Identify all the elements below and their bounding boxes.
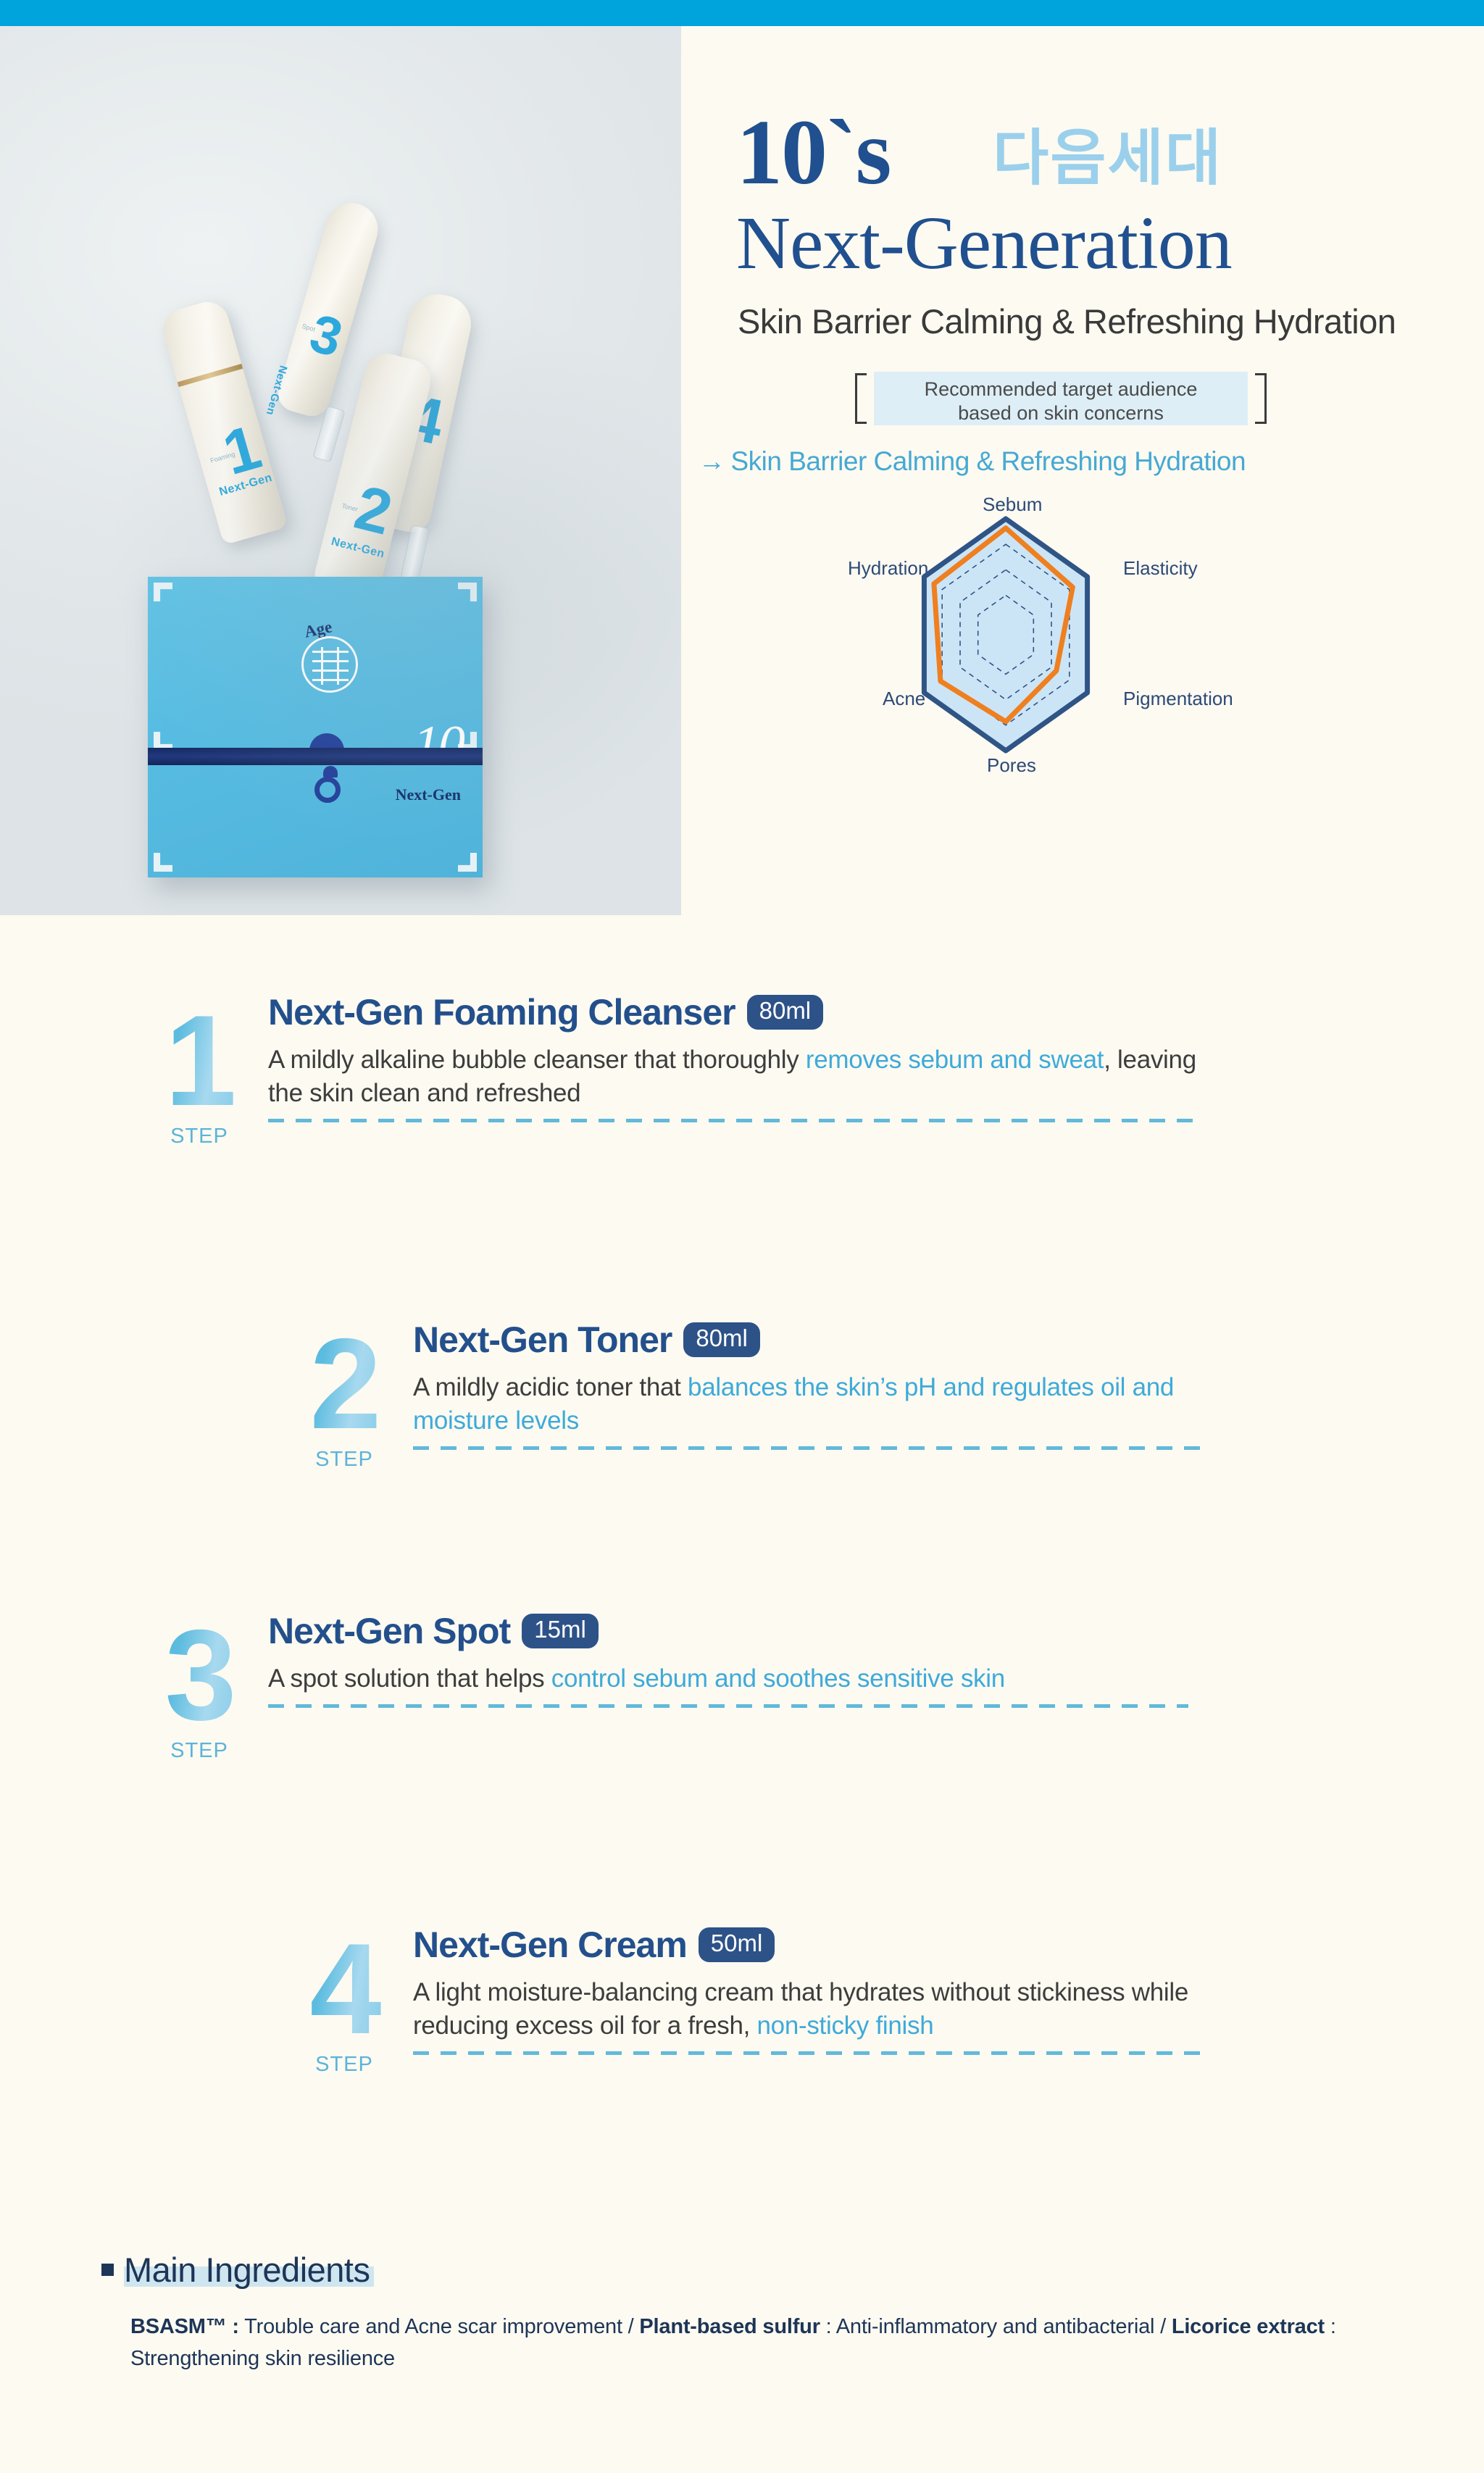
step-word-3: STEP	[130, 1739, 268, 1763]
step-divider-2	[413, 1446, 1210, 1450]
square-bullet-icon	[101, 2264, 114, 2276]
step-body-1: Next-Gen Foaming Cleanser 80ml A mildly …	[268, 991, 1203, 1122]
bottle-gold-ring	[178, 364, 243, 387]
step-title-row-2: Next-Gen Toner 80ml	[413, 1319, 1210, 1361]
step-numeral-3: 3	[130, 1616, 268, 1735]
radar-label-pores: Pores	[987, 754, 1036, 777]
step-title-3: Next-Gen Spot	[268, 1610, 510, 1652]
target-audience-text: Recommended target audience based on ski…	[874, 378, 1248, 426]
box-brand-text: Next-Gen	[396, 785, 461, 804]
product-small-label-2: Toner	[341, 502, 359, 513]
product-brand-4: Next-Gen	[357, 483, 380, 539]
skin-concern-radar-chart: Sebum Elasticity Pigmentation Pores Acne…	[761, 493, 1341, 776]
box-corner	[458, 853, 477, 872]
step-divider-3	[268, 1704, 1188, 1708]
step-description-4: A light moisture-balancing cream that hy…	[413, 1976, 1203, 2043]
box-corner	[154, 853, 172, 872]
step-number-column-2: 2 STEP	[275, 1325, 413, 1472]
ingredient-desc-1: Trouble care and Acne scar improvement /	[239, 2315, 640, 2338]
step-title-4: Next-Gen Cream	[413, 1924, 687, 1966]
step-title-row-1: Next-Gen Foaming Cleanser 80ml	[268, 991, 1203, 1033]
radar-plot-area	[883, 515, 1129, 754]
step-title-2: Next-Gen Toner	[413, 1319, 672, 1361]
box-corner	[154, 732, 172, 751]
step-number-column-1: 1 STEP	[130, 1001, 268, 1148]
ingredients-title-wrap: Main Ingredients	[124, 2250, 370, 2290]
ingredients-heading: Main Ingredients	[124, 2251, 370, 2289]
gift-box: Age 10 Next-Gen	[148, 577, 483, 877]
side-tagline: Everything is new, easy to start skin ca…	[1477, 1561, 1484, 2413]
volume-badge-1: 80ml	[747, 995, 824, 1030]
volume-badge-2: 80ml	[683, 1322, 760, 1357]
step-body-4: Next-Gen Cream 50ml A light moisture-bal…	[413, 1924, 1203, 2055]
product-photo: 3 Spot Next-Gen 4 Cream Next-Gen 1 Foami…	[0, 26, 681, 915]
step-description-1: A mildly alkaline bubble cleanser that t…	[268, 1043, 1203, 1110]
infographic-page: 3 Spot Next-Gen 4 Cream Next-Gen 1 Foami…	[0, 0, 1484, 2473]
ingredient-desc-2: : Anti-inflammatory and antibacterial /	[820, 2315, 1172, 2338]
radar-label-sebum: Sebum	[983, 493, 1042, 516]
step-numeral-1: 1	[130, 1001, 268, 1120]
step-divider-1	[268, 1119, 1203, 1122]
product-brand-1: Next-Gen	[218, 472, 274, 499]
product-bottle-2: 2 Toner Next-Gen	[312, 349, 435, 597]
target-result-text: Skin Barrier Calming & Refreshing Hydrat…	[731, 446, 1246, 476]
step-description-2: A mildly acidic toner that balances the …	[413, 1371, 1210, 1438]
box-corner	[154, 583, 172, 601]
step-numeral-2: 2	[275, 1325, 413, 1443]
hero-subtitle: Skin Barrier Calming & Refreshing Hydrat…	[738, 301, 1396, 341]
step-number-column-4: 4 STEP	[275, 1930, 413, 2077]
step-body-3: Next-Gen Spot 15ml A spot solution that …	[268, 1610, 1188, 1708]
product-small-label-1: Foaming	[209, 451, 235, 464]
step-title-row-4: Next-Gen Cream 50ml	[413, 1924, 1203, 1966]
step-word-2: STEP	[275, 1448, 413, 1472]
step-title-row-3: Next-Gen Spot 15ml	[268, 1610, 1188, 1652]
radar-label-elasticity: Elasticity	[1123, 557, 1198, 580]
volume-badge-3: 15ml	[522, 1614, 599, 1648]
step-number-column-3: 3 STEP	[130, 1616, 268, 1763]
box-ten-text: 10	[413, 714, 464, 776]
radar-label-pigmentation: Pigmentation	[1123, 688, 1233, 710]
main-ingredients-section: Main Ingredients BSASM™ : Trouble care a…	[101, 2250, 1377, 2374]
step-body-2: Next-Gen Toner 80ml A mildly acidic tone…	[413, 1319, 1210, 1450]
product-number-3: 3	[304, 306, 348, 365]
title-next-generation: Next-Generation	[736, 206, 1232, 281]
step-word-1: STEP	[130, 1125, 268, 1148]
ingredients-heading-row: Main Ingredients	[101, 2250, 1377, 2290]
product-number-4: 4	[401, 385, 449, 454]
ingredient-name-1: BSASM™ :	[130, 2315, 239, 2338]
title-tens: 10`s	[736, 106, 890, 199]
ingredients-body: BSASM™ : Trouble care and Acne scar impr…	[130, 2311, 1377, 2374]
tube-nozzle-3	[312, 406, 345, 462]
ingredient-name-3: Licorice extract	[1172, 2315, 1325, 2338]
step-numeral-4: 4	[275, 1930, 413, 2048]
product-small-label-4: Cream	[394, 409, 415, 420]
korean-seal-icon	[301, 636, 358, 693]
target-result-line: →Skin Barrier Calming & Refreshing Hydra…	[699, 446, 1246, 477]
product-brand-2: Next-Gen	[330, 535, 385, 562]
box-corner	[458, 732, 477, 751]
ingredient-name-2: Plant-based sulfur	[639, 2315, 820, 2338]
target-audience-box: Recommended target audience based on ski…	[874, 372, 1248, 425]
step-divider-4	[413, 2051, 1203, 2055]
product-number-1: 1	[217, 415, 267, 485]
hero-text-panel: 10`s 다음세대 Next-Generation Skin Barrier C…	[681, 26, 1484, 915]
step-description-3: A spot solution that helps control sebum…	[268, 1662, 1188, 1696]
bracket-left-icon	[855, 373, 867, 424]
bracket-right-icon	[1255, 373, 1267, 424]
product-brand-3: Next-Gen	[264, 364, 290, 417]
product-small-label-3: Spot	[301, 322, 317, 333]
door-knocker-icon	[314, 777, 341, 803]
box-age-text: Age	[303, 617, 334, 641]
product-bottle-1: 1 Foaming Next-Gen	[158, 297, 288, 546]
step-word-4: STEP	[275, 2053, 413, 2077]
box-navy-band	[148, 748, 483, 765]
box-corner	[458, 583, 477, 601]
box-emblem-icon	[309, 733, 344, 758]
product-tube-4: 4 Cream Next-Gen	[366, 289, 477, 536]
product-number-2: 2	[349, 476, 398, 545]
product-tube-3: 3 Spot Next-Gen	[274, 197, 384, 420]
title-korean: 다음세대	[993, 128, 1222, 188]
tube-nozzle-4	[401, 525, 430, 581]
step-title-1: Next-Gen Foaming Cleanser	[268, 991, 735, 1033]
top-accent-bar	[0, 0, 1484, 26]
arrow-right-icon: →	[699, 446, 725, 476]
volume-badge-4: 50ml	[699, 1927, 775, 1962]
